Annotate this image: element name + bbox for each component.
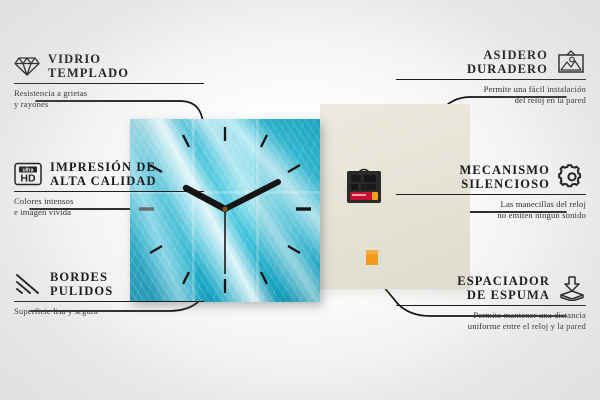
feature-description: Permite una fácil instalación del reloj … [396,84,586,105]
feature-title: BORDES PULIDOS [50,270,113,298]
feature-desc-line1: Permite una fácil instalación [396,84,586,95]
feature-title-line2: TEMPLADO [48,66,129,80]
feature-desc-line2: uniforme entre el reloj y la pared [396,321,586,332]
battery-terminal [372,192,378,200]
feature-title-line1: MECANISMO [460,163,550,177]
feature-desc-line1: Permite mantener una distancia [396,310,586,321]
feature-desc-line1: Las manecillas del reloj [396,199,586,210]
feature-title-line2: DE ESPUMA [457,288,550,302]
feature-title-line1: VIDRIO [48,52,129,66]
feature-title: MECANISMO SILENCIOSO [460,163,550,191]
foam-spacer-part [365,248,384,267]
feature-head: BORDES PULIDOS [14,270,204,301]
ultra-hd-icon: ultra HD [14,162,42,186]
press-down-pad-icon [558,275,586,301]
feature-title-line1: IMPRESIÓN DE [50,160,157,174]
feature-desc-line2: no emiten ningún sonido [396,210,586,221]
feature-divider [14,191,204,192]
feature-desc-line2: e imagen vívida [14,207,204,218]
feature-description: Permite mantener una distancia uniforme … [396,310,586,331]
feature-description: Colores intensos e imagen vívida [14,196,204,217]
feature-divider [14,301,204,302]
svg-text:HD: HD [20,173,36,185]
clock-mechanism-part [342,166,386,208]
feature-description: Superficie lisa y segura [14,306,204,317]
feature-desc-line1: Resistencia a grietas [14,88,204,99]
diamond-icon [14,55,40,77]
feature-head: ultra HD IMPRESIÓN DE ALTA CALIDAD [14,160,204,191]
clock-minute-hand [225,182,278,209]
feature-divider [396,194,586,195]
feature-head: ESPACIADOR DE ESPUMA [396,274,586,305]
feature-head: MECANISMO SILENCIOSO [396,163,586,194]
feature-desc-line1: Colores intensos [14,196,204,207]
feature-callout-bordes-pulidos[interactable]: BORDES PULIDOS Superficie lisa y segura [14,270,204,317]
feature-desc-line1: Superficie lisa y segura [14,306,204,317]
feature-description: Resistencia a grietas y rayones [14,88,204,109]
feature-callout-impresion-alta-calidad[interactable]: ultra HD IMPRESIÓN DE ALTA CALIDAD Color… [14,160,204,217]
picture-frame-hanger-icon [556,50,586,74]
feature-title-line2: DURADERO [467,62,548,76]
feature-head: ASIDERO DURADERO [396,48,586,79]
feature-divider [396,79,586,80]
feature-callout-vidrio-templado[interactable]: VIDRIO TEMPLADO Resistencia a grietas y … [14,52,204,109]
feature-divider [396,305,586,306]
feature-description: Las manecillas del reloj no emiten ningú… [396,199,586,220]
feature-title-line1: ESPACIADOR [457,274,550,288]
feature-title: ASIDERO DURADERO [467,48,548,76]
feature-callout-mecanismo-silencioso[interactable]: MECANISMO SILENCIOSO Las manecillas del … [396,163,586,220]
feature-title-line2: PULIDOS [50,284,113,298]
feature-callout-espaciador-de-espuma[interactable]: ESPACIADOR DE ESPUMA Permite mantener un… [396,274,586,331]
feature-title: ESPACIADOR DE ESPUMA [457,274,550,302]
clock-center-pin [222,206,227,211]
feature-head: VIDRIO TEMPLADO [14,52,204,83]
feature-title-line1: BORDES [50,270,113,284]
feature-desc-line2: del reloj en la pared [396,95,586,106]
feature-title: IMPRESIÓN DE ALTA CALIDAD [50,160,157,188]
feature-divider [14,83,204,84]
polished-edges-icon [14,272,42,296]
infographic-canvas: VIDRIO TEMPLADO Resistencia a grietas y … [0,0,600,400]
feature-callout-asidero-duradero[interactable]: ASIDERO DURADERO Permite una fácil insta… [396,48,586,105]
feature-title: VIDRIO TEMPLADO [48,52,129,80]
feature-title-line2: ALTA CALIDAD [50,174,157,188]
feature-title-line1: ASIDERO [467,48,548,62]
feature-title-line2: SILENCIOSO [460,177,550,191]
feature-desc-line2: y rayones [14,99,204,110]
gear-icon [558,164,586,190]
